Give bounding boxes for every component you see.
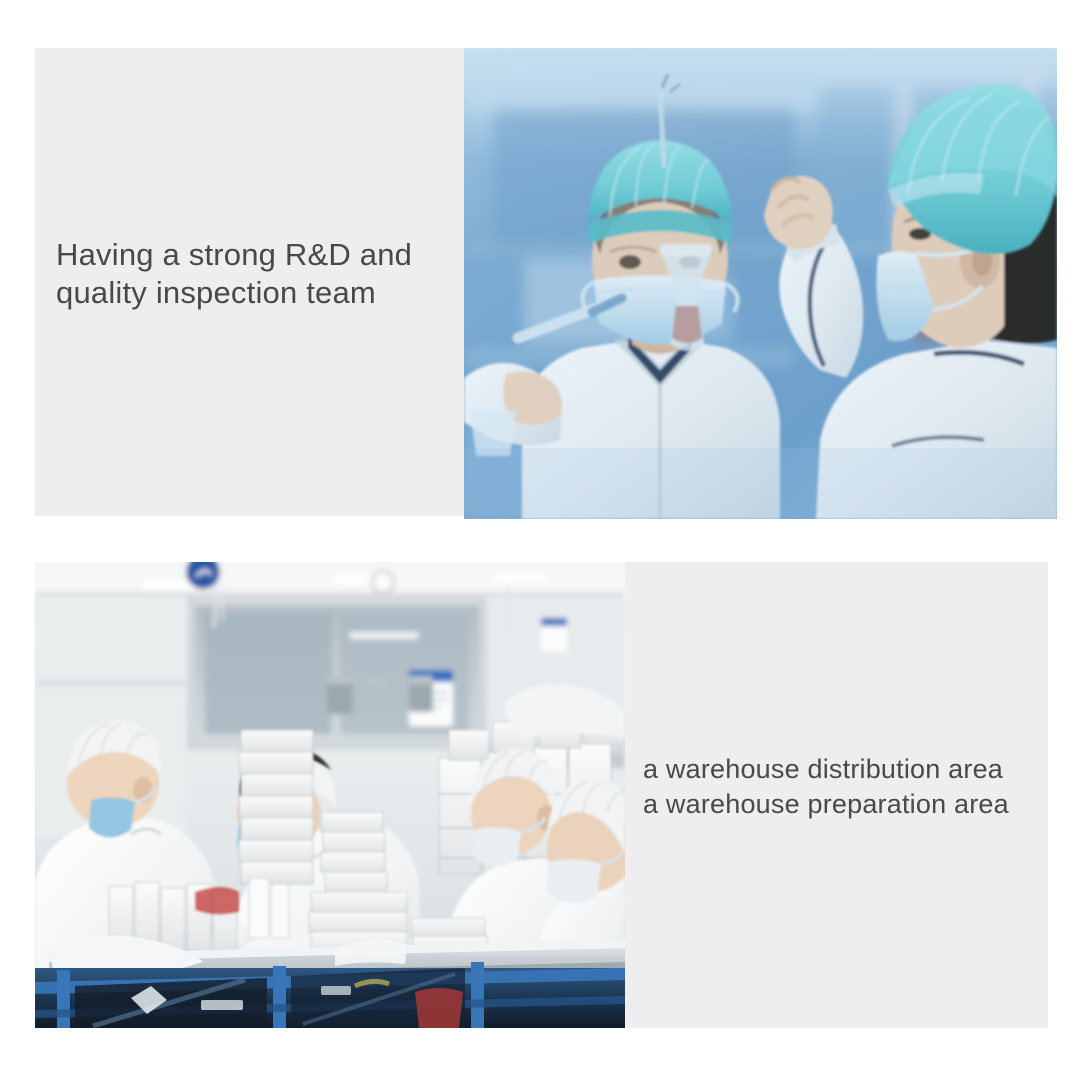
- caption-rd-quality-inspection: Having a strong R&D and quality inspecti…: [56, 236, 456, 312]
- warehouse-packing-illustration: [35, 562, 625, 1028]
- poster-root: Having a strong R&D and quality inspecti…: [0, 0, 1080, 1080]
- section-rd-quality-inspection: Having a strong R&D and quality inspecti…: [0, 0, 1080, 530]
- lab-technicians-illustration: [464, 48, 1057, 519]
- caption-warehouse-areas: a warehouse distribution area a warehous…: [643, 752, 1043, 821]
- warehouse-packing-photo: [35, 562, 625, 1028]
- section-warehouse-areas: a warehouse distribution area a warehous…: [0, 530, 1080, 1080]
- lab-technicians-photo: [464, 48, 1057, 519]
